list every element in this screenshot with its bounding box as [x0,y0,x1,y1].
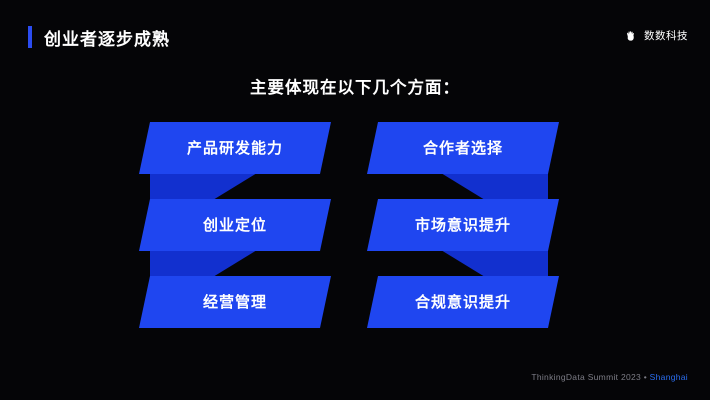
slide-subtitle: 主要体现在以下几个方面： [0,74,710,98]
slide: 创业者逐步成熟 数数科技 主要体现在以下几个方面： 产品研发能力 创业定位 经营… [0,0,710,400]
band-label: 创业定位 [203,218,267,233]
band-label: 经营管理 [203,295,267,310]
band-label: 合规意识提升 [415,295,511,310]
slide-footer: ThinkingData Summit 2023 • Shanghai [531,372,688,382]
brand-name: 数数科技 [644,28,688,43]
slide-header: 创业者逐步成熟 数数科技 [0,0,710,62]
band-label: 市场意识提升 [415,218,511,233]
diagram-band-left-1: 产品研发能力 [150,122,320,174]
diagram-band-left-2: 创业定位 [150,199,320,251]
connector-left-2 [150,251,320,276]
title-accent-bar [28,26,32,48]
diagram-band-left-3: 经营管理 [150,276,320,328]
page-title: 创业者逐步成熟 [44,25,170,50]
footer-text: ThinkingData Summit 2023 • [531,372,649,382]
footer-accent: Shanghai [650,372,688,382]
connector-right-2 [378,251,548,276]
connector-right-1 [378,174,548,199]
band-label: 合作者选择 [423,141,503,156]
diagram-band-right-3: 合规意识提升 [378,276,548,328]
diagram-band-right-2: 市场意识提升 [378,199,548,251]
brand-logo: 数数科技 [624,28,688,43]
hand-logo-icon [624,28,639,43]
diagram-band-right-1: 合作者选择 [378,122,548,174]
band-label: 产品研发能力 [187,141,283,156]
connector-left-1 [150,174,320,199]
diagram: 产品研发能力 创业定位 经营管理 合作者选择 市场意识提升 合规意识提升 [0,112,710,342]
